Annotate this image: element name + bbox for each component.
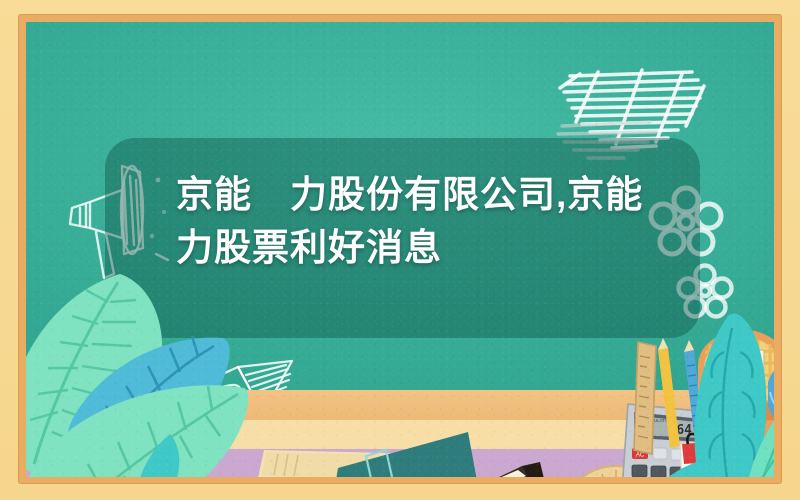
page-title: 京能 力股份有限公司,京能 力股票利好消息 (176, 168, 696, 274)
desk-pad-band (26, 420, 774, 452)
banner-image: 京能 力股份有限公司,京能 力股票利好消息 (0, 0, 800, 500)
chalkboard-surface: 京能 力股份有限公司,京能 力股票利好消息 (26, 22, 774, 477)
desk-top-band (26, 449, 774, 477)
backpack-tag-text: SCHOOL (729, 359, 759, 366)
shelf-band (26, 390, 774, 424)
